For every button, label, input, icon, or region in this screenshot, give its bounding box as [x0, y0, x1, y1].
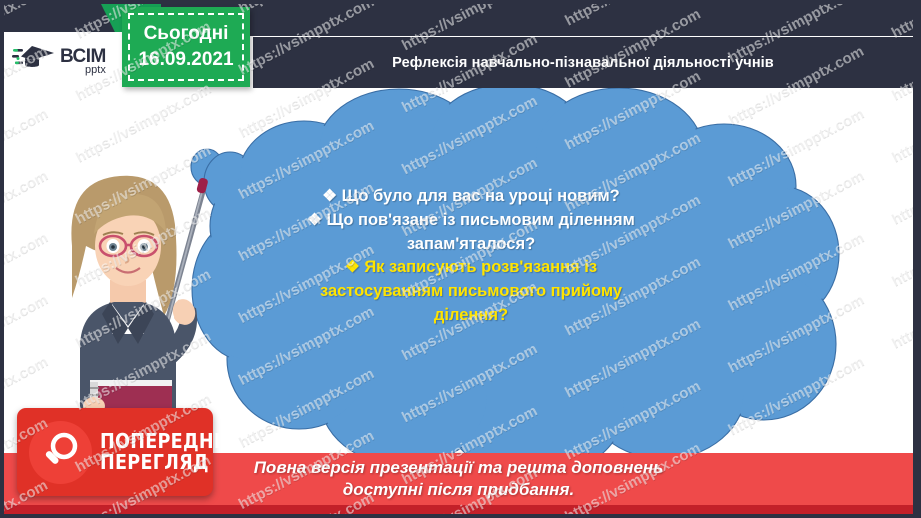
date-chip: Сьогодні 16.09.2021 — [122, 7, 250, 87]
cloud-line-5: застосуванням письмового прийому — [236, 281, 706, 303]
slide-canvas: ВСІМ pptx Сьогодні 16.09.2021 Рефлексія … — [4, 4, 913, 514]
graduation-cap-icon — [12, 42, 56, 81]
watermark-text: https://vsimpptx.com — [889, 142, 913, 228]
cloud-line-2: ❖ Що пов'язане із письмовим діленням — [236, 210, 706, 232]
watermark-text: https://vsimpptx.com — [236, 365, 377, 451]
cloud-line-3: запам'яталося? — [236, 234, 706, 256]
watermark-text: https://vsimpptx.com — [726, 229, 867, 315]
slide-title: Рефлексія навчально-пізнавальної діяльно… — [392, 55, 774, 71]
teacher-illustration — [32, 154, 242, 444]
preview-badge-line-2: ПЕРЕГЛЯД — [100, 452, 236, 473]
watermark-text: https://vsimpptx.com — [73, 80, 214, 166]
brand-logo[interactable]: ВСІМ pptx — [12, 40, 124, 82]
watermark-text: https://vsimpptx.com — [399, 92, 540, 178]
watermark-text: https://vsimpptx.com — [889, 266, 913, 352]
footer-line-1: Повна версія презентації та решта доповн… — [254, 457, 664, 479]
logo-text-block: ВСІМ pptx — [60, 47, 106, 76]
magnifier-icon — [29, 421, 92, 484]
watermark-text: https://vsimpptx.com — [889, 204, 913, 290]
preview-badge-line-1: ПОПЕРЕДНІЙ — [100, 431, 236, 452]
preview-badge-text: ПОПЕРЕДНІЙ ПЕРЕГЛЯД — [100, 431, 254, 472]
presentation-slide: ВСІМ pptx Сьогодні 16.09.2021 Рефлексія … — [0, 0, 921, 518]
watermark-text: https://vsimpptx.com — [726, 105, 867, 191]
footer-bottom-strip — [4, 505, 913, 514]
cloud-line-6: ділення? — [236, 305, 706, 327]
watermark-text: https://vsimpptx.com — [726, 353, 867, 439]
slide-header-bar: Рефлексія навчально-пізнавальної діяльно… — [253, 37, 913, 88]
cloud-line-1: ❖ Що було для вас на уроці новим? — [236, 186, 706, 208]
footer-line-2: доступні після придбання. — [343, 479, 574, 501]
cloud-text-block: ❖ Що було для вас на уроці новим? ❖ Що п… — [236, 186, 706, 329]
watermark-text: https://vsimpptx.com — [889, 80, 913, 166]
watermark-text: https://vsimpptx.com — [726, 291, 867, 377]
date-chip-label: Сьогодні — [144, 21, 229, 47]
preview-badge[interactable]: ПОПЕРЕДНІЙ ПЕРЕГЛЯД — [17, 408, 213, 496]
date-chip-value: 16.09.2021 — [138, 47, 233, 73]
watermark-text: https://vsimpptx.com — [726, 167, 867, 253]
cloud-line-4: ❖ Як записують розв'язання із — [236, 257, 706, 279]
watermark-text: https://vsimpptx.com — [399, 340, 540, 426]
watermark-text: https://vsimpptx.com — [562, 378, 703, 464]
